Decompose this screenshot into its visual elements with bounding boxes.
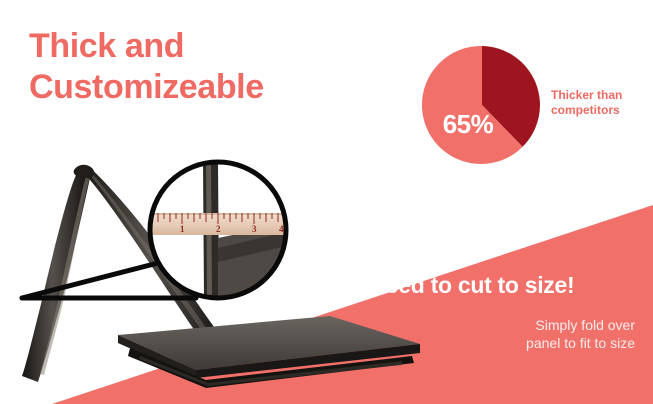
svg-text:1: 1 bbox=[180, 224, 185, 234]
pie-legend-label: Thicker than competitors bbox=[551, 88, 651, 118]
promo-banner: Thick and Customizeable bbox=[0, 0, 653, 404]
cta-rest: need to cut to size! bbox=[372, 272, 574, 298]
magnifier-circle bbox=[22, 162, 286, 298]
page-title: Thick and Customizeable bbox=[29, 26, 359, 108]
svg-text:3: 3 bbox=[252, 224, 257, 234]
svg-text:4: 4 bbox=[279, 224, 284, 234]
panel-fold-apex bbox=[74, 165, 94, 178]
panel-base-slab bbox=[118, 316, 420, 388]
pie-chart-svg bbox=[422, 45, 542, 165]
pie-chart: 65% bbox=[422, 45, 542, 165]
svg-text:2: 2 bbox=[216, 224, 221, 234]
cta-subtitle: Simply fold over panel to fit to size bbox=[395, 316, 635, 352]
cta-emphasis: No bbox=[340, 272, 370, 298]
magnifier-lens-content: 1 2 3 4 bbox=[150, 162, 286, 298]
wooden-ruler: 1 2 3 4 bbox=[152, 213, 286, 235]
panel-left-leg bbox=[22, 172, 90, 382]
cta-headline: Noneed to cut to size! bbox=[340, 272, 635, 299]
product-photo: 1 2 3 4 bbox=[0, 120, 420, 404]
pie-value-label: 65% bbox=[428, 109, 508, 140]
coral-polygon bbox=[52, 205, 653, 404]
panel-right-leg bbox=[80, 166, 232, 362]
